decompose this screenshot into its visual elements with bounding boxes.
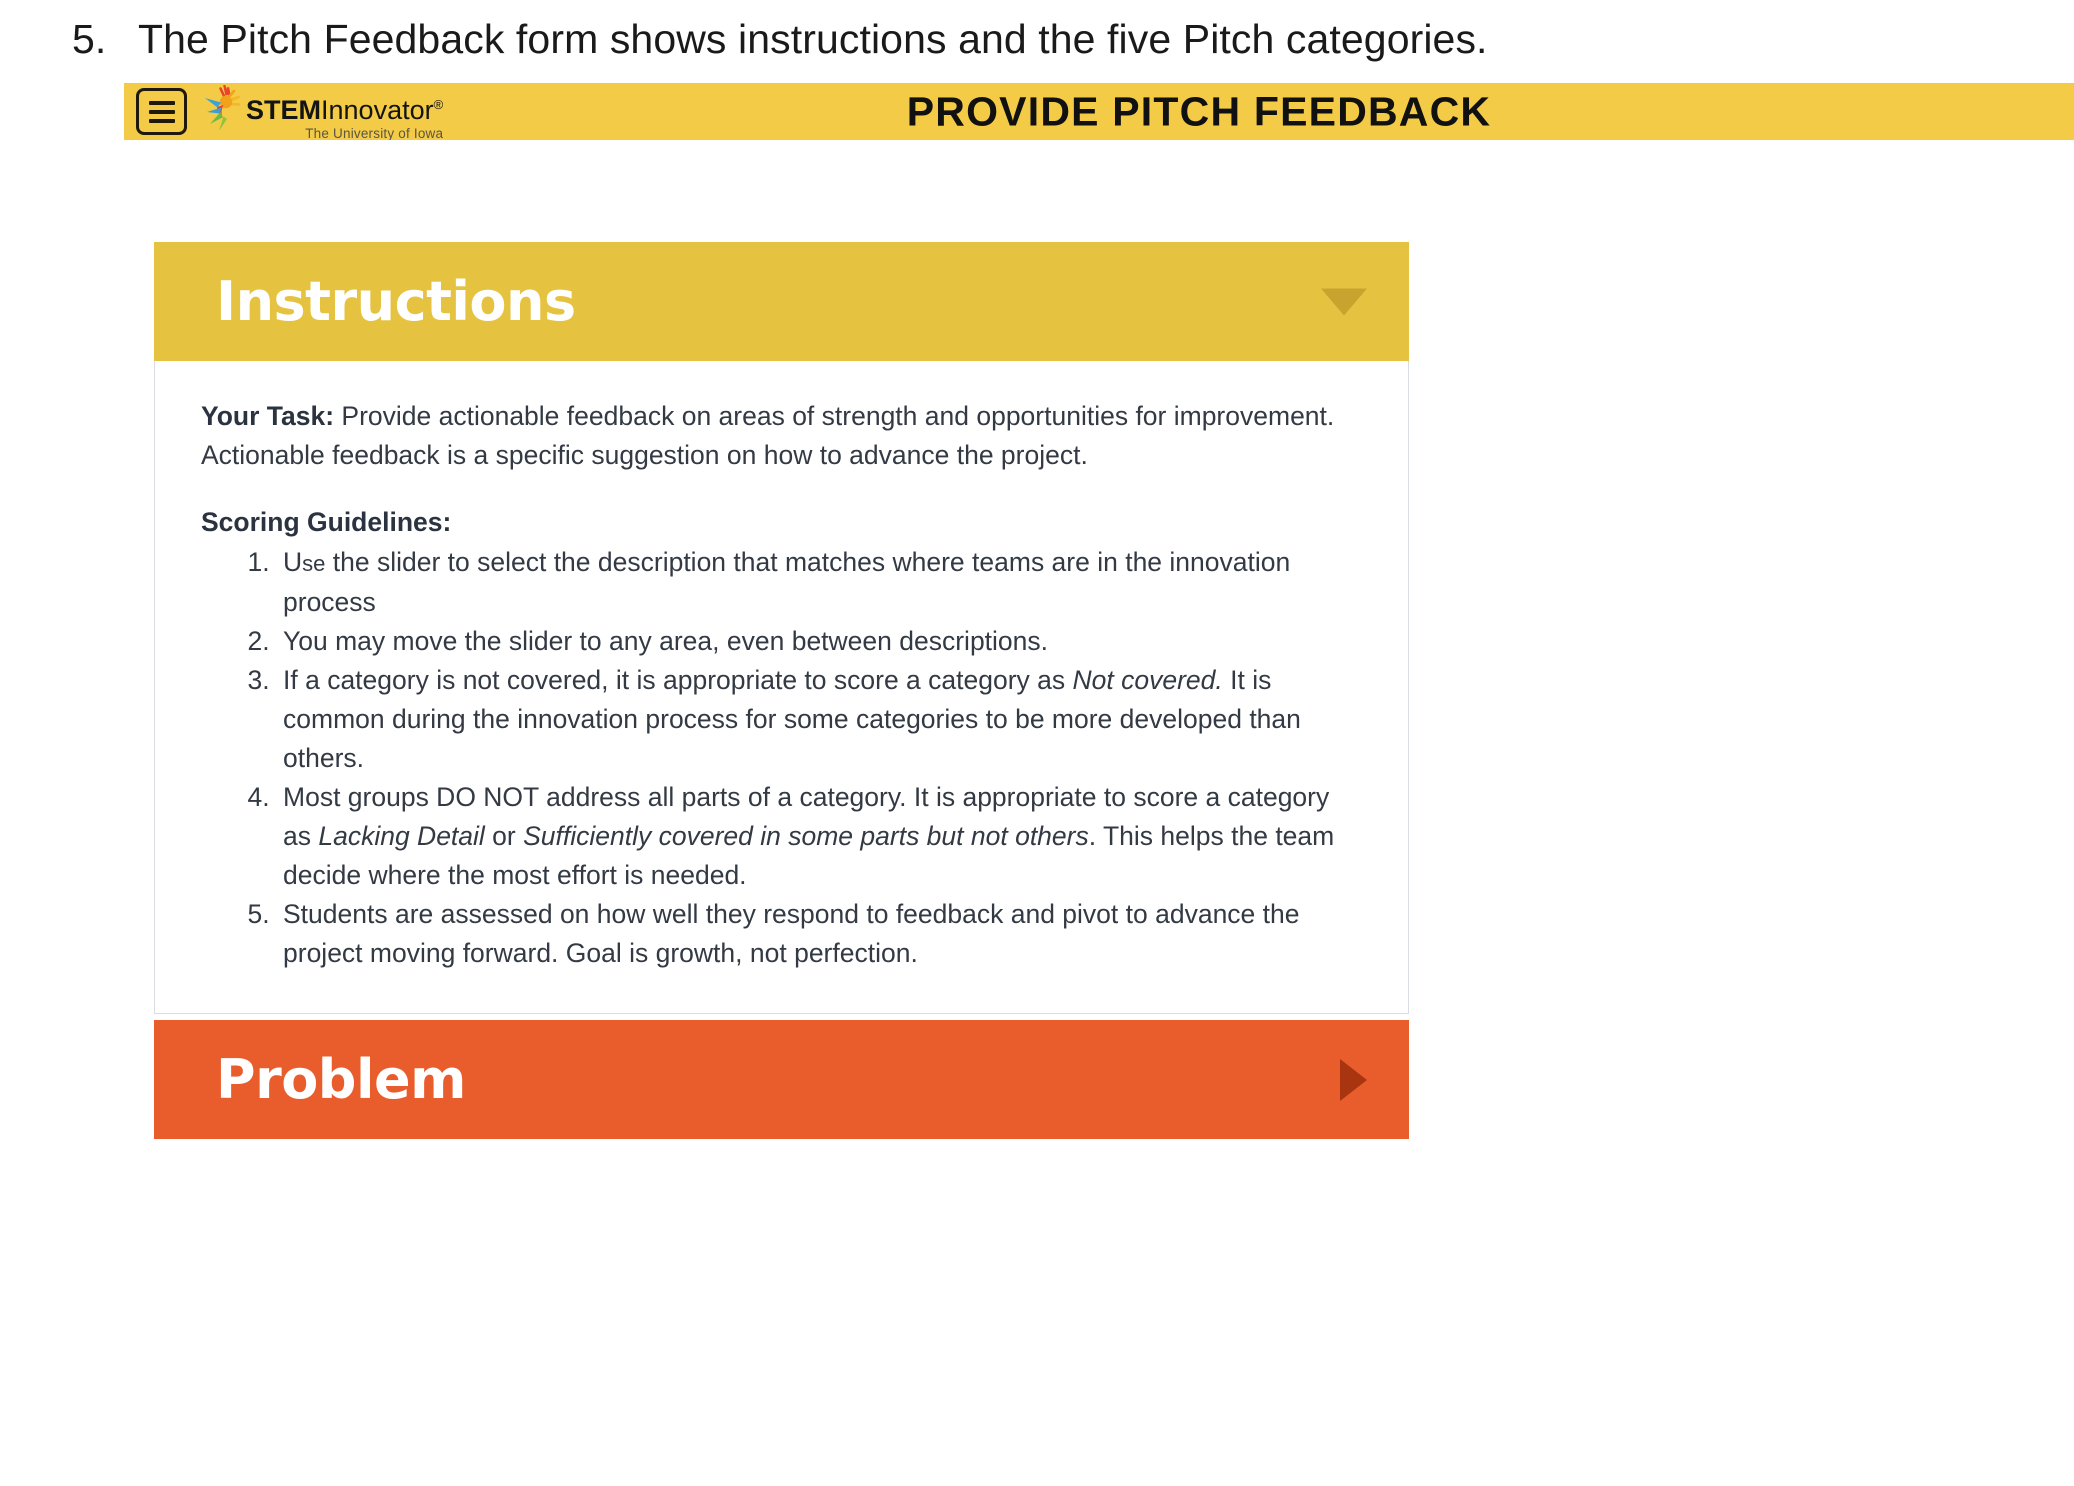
guideline-item: Students are assessed on how well they r…: [277, 895, 1362, 973]
logo-brand-light: Innovator: [321, 95, 434, 125]
guideline-item: Use the slider to select the description…: [277, 543, 1362, 622]
logo-wordmark: STEMInnovator®: [246, 91, 443, 124]
accordion-problem-title: Problem: [216, 1048, 466, 1111]
scoring-guidelines-list: Use the slider to select the description…: [201, 543, 1362, 973]
chevron-down-icon[interactable]: [1321, 288, 1367, 315]
guideline-text: Sufficiently covered in some parts but n…: [523, 821, 1089, 851]
guideline-text: or: [485, 821, 523, 851]
guideline-text: If a category is not covered, it is appr…: [283, 665, 1073, 695]
app-body: Instructions Your Task: Provide actionab…: [124, 140, 2074, 1486]
hamburger-bar: [149, 101, 175, 105]
chevron-right-icon[interactable]: [1340, 1059, 1367, 1101]
guideline-item: You may move the slider to any area, eve…: [277, 622, 1362, 661]
accordion-problem: Problem: [154, 1020, 1409, 1139]
instructions-panel: Your Task: Provide actionable feedback o…: [154, 361, 1409, 1014]
accordion-instructions-title: Instructions: [216, 270, 576, 333]
accordion-problem-header[interactable]: Problem: [154, 1020, 1409, 1139]
step-caption: 5. The Pitch Feedback form shows instruc…: [72, 16, 1972, 63]
your-task-text: Provide actionable feedback on areas of …: [201, 401, 1334, 470]
guideline-text: U: [283, 547, 302, 577]
logo-brand-bold: STEM: [246, 95, 321, 125]
scoring-guidelines-heading: Scoring Guidelines:: [201, 505, 1362, 539]
hamburger-bar: [149, 119, 175, 123]
your-task-label: Your Task:: [201, 401, 334, 431]
hamburger-bar: [149, 110, 175, 114]
guideline-item: If a category is not covered, it is appr…: [277, 661, 1362, 778]
guideline-text: You may move the slider to any area, eve…: [283, 626, 1048, 656]
your-task-paragraph: Your Task: Provide actionable feedback o…: [201, 397, 1362, 475]
guideline-text: se: [302, 551, 325, 576]
stem-innovator-logo[interactable]: STEMInnovator® The University of Iowa: [201, 86, 443, 138]
guideline-text: Lacking Detail: [318, 821, 484, 851]
slide-canvas: 5. The Pitch Feedback form shows instruc…: [0, 0, 2074, 1486]
logo-registered-mark: ®: [434, 97, 444, 112]
logo-subtitle: The University of Iowa: [246, 126, 443, 141]
step-number: 5.: [72, 16, 138, 63]
guideline-text: Not covered.: [1073, 665, 1223, 695]
hamburger-menu-icon[interactable]: [136, 88, 187, 135]
app-window: STEMInnovator® The University of Iowa PR…: [124, 83, 2074, 1486]
logo-text-block: STEMInnovator® The University of Iowa: [246, 86, 443, 141]
guideline-text: Students are assessed on how well they r…: [283, 899, 1300, 968]
guideline-item: Most groups DO NOT address all parts of …: [277, 778, 1362, 895]
starburst-figure-icon: [201, 85, 245, 133]
step-text: The Pitch Feedback form shows instructio…: [138, 16, 1972, 63]
accordion-instructions-header[interactable]: Instructions: [154, 242, 1409, 361]
guideline-text: the slider to select the description tha…: [283, 547, 1290, 617]
accordion-instructions: Instructions Your Task: Provide actionab…: [154, 242, 1409, 1014]
app-header: STEMInnovator® The University of Iowa PR…: [124, 83, 2074, 140]
